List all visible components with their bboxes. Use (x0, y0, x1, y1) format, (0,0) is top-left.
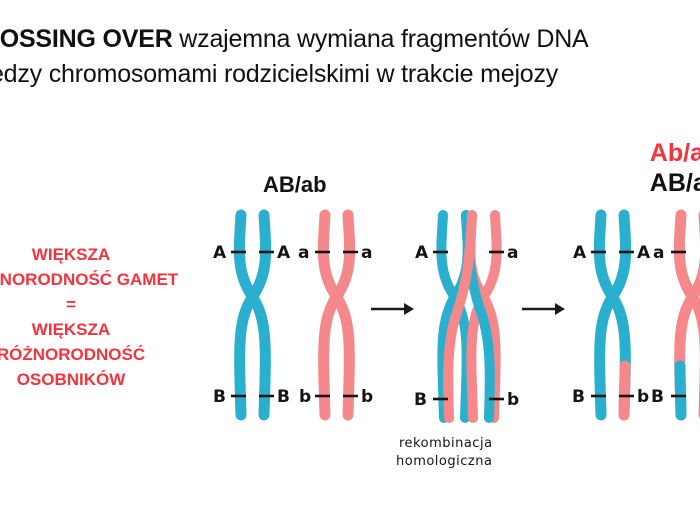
handwritten-recombination-label: rekombinacja homologiczna (396, 436, 493, 469)
panel-1-pink-chromosome: a a b b (298, 215, 373, 415)
allele-a-left: a (298, 243, 309, 263)
allele-A-recomb-left: A (573, 243, 587, 263)
panel-3-recombinant-blue: A A B b (572, 215, 651, 415)
allele-B-recomb-pink-left: B (651, 387, 664, 407)
allele-B-right: B (277, 387, 290, 407)
recombinant-pink-blue-segment (680, 366, 681, 415)
allele-B-bivalent: B (414, 390, 427, 410)
allele-A-recomb-right: A (637, 243, 651, 263)
panel-1-blue-chromosome: A A B B (213, 215, 291, 415)
arrow-1 (371, 303, 414, 315)
allele-B-left: B (213, 387, 226, 407)
allele-b-left: b (299, 387, 311, 407)
arrow-2 (522, 303, 565, 315)
allele-A-left: A (213, 243, 227, 263)
allele-a-bivalent: a (507, 243, 518, 263)
slide-canvas: CROSSING OVER wzajemna wymiana fragmentó… (0, 0, 700, 520)
allele-b-recomb-right: b (637, 387, 649, 407)
allele-A-right: A (277, 243, 291, 263)
allele-b-bivalent: b (507, 390, 519, 410)
panel-3-recombinant-pink: a B (651, 215, 700, 415)
crossing-over-diagram: A A B B a a b b (0, 0, 700, 520)
panel-2-bivalent: A a B b (414, 215, 519, 418)
allele-A-bivalent: A (415, 243, 429, 263)
recombinant-blue-pink-segment (624, 366, 625, 415)
allele-B-recomb-left: B (572, 387, 585, 407)
handwritten-line-2: homologiczna (396, 454, 492, 469)
handwritten-line-1: rekombinacja (399, 436, 493, 451)
allele-a-right: a (361, 243, 372, 263)
allele-b-right: b (361, 387, 373, 407)
allele-a-recomb-left: a (653, 243, 664, 263)
